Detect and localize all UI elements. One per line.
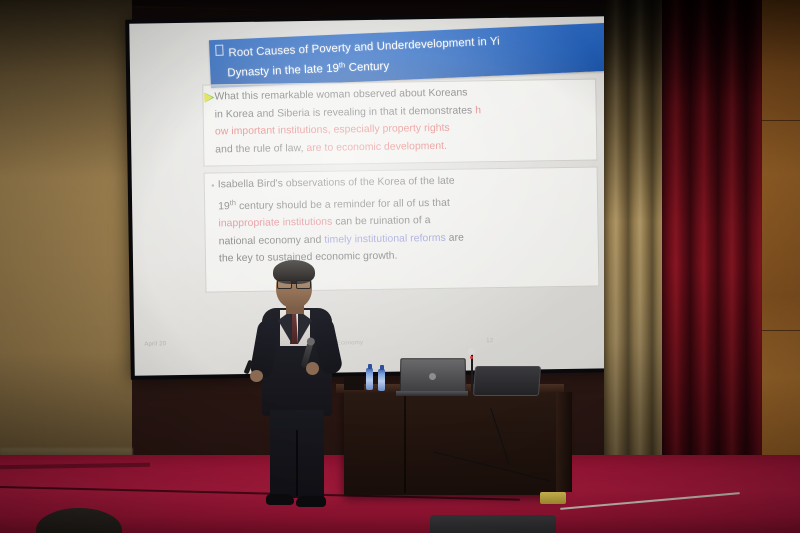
- p2-l2-s1: 19: [218, 201, 230, 212]
- presentation-table: [344, 390, 560, 495]
- dot-bullet-icon: [212, 184, 214, 186]
- presenter-shoe-left: [266, 494, 294, 505]
- p1-l4-s1: and the rule of law,: [215, 143, 306, 155]
- triangle-arrow-bullet-icon: [204, 92, 214, 102]
- curtain-gold-left: [0, 0, 132, 470]
- laptop-screen: [400, 358, 467, 395]
- projection-screen-frame: Root Causes of Poverty and Underdevelopm…: [125, 12, 617, 380]
- water-bottle: [378, 369, 385, 391]
- p2-l4-s1: national economy and: [219, 235, 325, 248]
- slide-paragraph-2: Isabella Bird's observations of the Kore…: [218, 170, 597, 268]
- slide-title-line-2-pre: Dynasty in the late 19: [216, 62, 339, 79]
- slide-title-line-2-post: Century: [345, 60, 389, 74]
- p2-l4-s3: are: [446, 232, 464, 243]
- p2-l2-s3: century should be a reminder for all of …: [236, 197, 450, 211]
- trouser-seam: [296, 430, 298, 496]
- p1-l4-s2: are to economic development.: [306, 141, 447, 154]
- p2-l4-s2: timely institutional reforms: [324, 233, 446, 246]
- lecture-hall-photo: Root Causes of Poverty and Underdevelopm…: [0, 0, 800, 533]
- water-bottle: [366, 368, 373, 390]
- wood-seam: [762, 330, 800, 331]
- cable-protector: [540, 492, 566, 504]
- curtain-red-right: [662, 0, 772, 533]
- microphone-led-indicator: [470, 356, 473, 359]
- p2-l3-s2: can be ruination of a: [332, 215, 430, 228]
- title-bullet-icon: [215, 45, 223, 56]
- table-right-side: [556, 392, 572, 492]
- presenter-hand-right: [306, 362, 319, 375]
- laptop-base: [396, 391, 468, 396]
- p2-l1-s1: Isabella Bird's observations of the Kore…: [218, 176, 455, 191]
- projection-screen: Root Causes of Poverty and Underdevelopm…: [129, 16, 612, 375]
- laptop-logo-icon: [429, 373, 436, 380]
- slide-page-number: 12: [486, 338, 493, 344]
- slide-paragraph-1: What this remarkable woman observed abou…: [214, 82, 595, 158]
- table-panel-seam: [404, 393, 406, 493]
- wood-seam: [762, 120, 800, 121]
- p1-l3-s1: ow important institutions, especially pr…: [215, 123, 450, 138]
- foreground-chair-back: [430, 515, 556, 533]
- desk-microphone-head-icon: [468, 348, 475, 355]
- slide-footer-date: April 20: [144, 341, 166, 347]
- presenter-shoe-right: [296, 496, 326, 507]
- p1-l2-s2: h: [475, 105, 481, 116]
- p1-l2-s1: in Korea and Siberia is revealing in tha…: [215, 105, 476, 120]
- presenter: [244, 258, 356, 510]
- presentation-slide: Root Causes of Poverty and Underdevelopm…: [129, 16, 612, 375]
- p2-l3-s1: inappropriate institutions: [218, 217, 332, 230]
- wood-wall-panel: [762, 0, 800, 510]
- chair-backrest: [473, 366, 541, 396]
- slide-title-line-1: Root Causes of Poverty and Underdevelopm…: [228, 36, 500, 60]
- presenter-hand-left: [250, 370, 263, 382]
- p1-l1-s1: What this remarkable woman observed abou…: [214, 87, 467, 102]
- eyeglasses-icon: [277, 280, 311, 287]
